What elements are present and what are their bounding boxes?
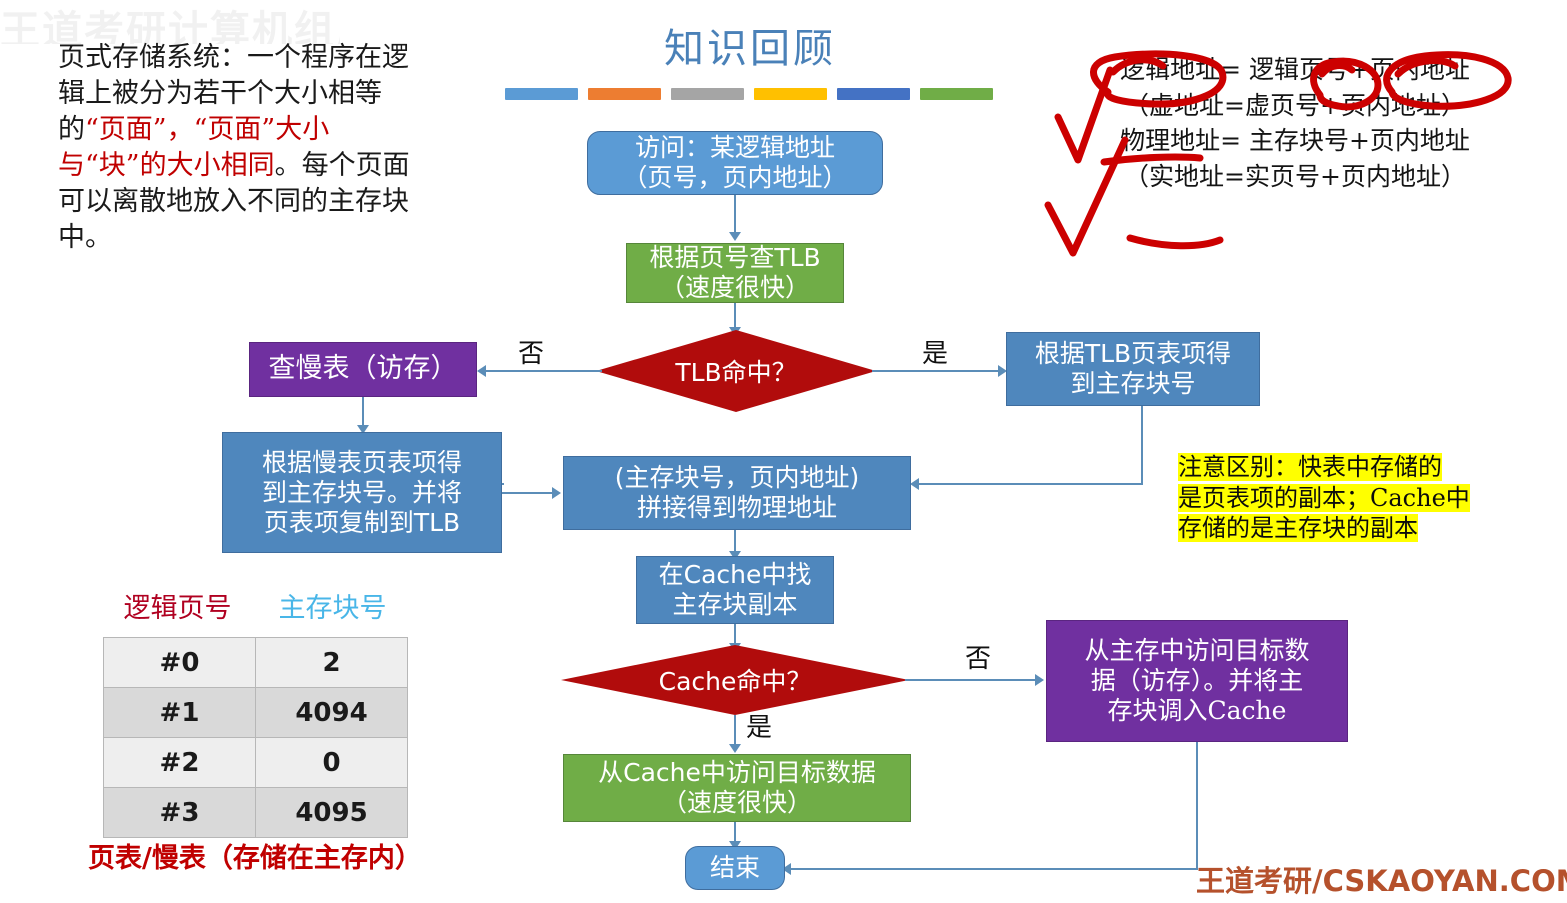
formula-physical-address: 物理地址= 主存块号+页内地址 xyxy=(1060,123,1530,159)
table-row: #0 2 xyxy=(104,638,408,688)
connector-slowresult-to-concat xyxy=(502,492,557,494)
connector-cache-yes xyxy=(734,715,736,747)
flow-start-line1: 访问：某逻辑地址 xyxy=(622,133,847,163)
flow-node-tlb-hit-result[interactable]: 根据TLB页表项得 到主存块号 xyxy=(1006,332,1260,406)
accent-bar-strip xyxy=(505,88,993,100)
find-cache-line2: 主存块副本 xyxy=(659,590,812,620)
slow-result-line2: 到主存块号。并将 xyxy=(262,478,462,508)
connector-slowresult-right-riser xyxy=(502,483,504,485)
flow-node-slow-table[interactable]: 查慢表（访存） xyxy=(249,342,477,397)
tlb-hit-line1: 根据TLB页表项得 xyxy=(1035,339,1231,369)
cell-page: #1 xyxy=(104,688,256,738)
cell-page: #0 xyxy=(104,638,256,688)
tlb-lookup-line1: 根据页号查TLB xyxy=(649,243,820,273)
page-table: #0 2 #1 4094 #2 0 #3 4095 xyxy=(103,637,408,838)
page-title: 知识回顾 xyxy=(520,16,980,74)
connector-tlb-yes xyxy=(872,370,1002,372)
accent-bar-3 xyxy=(671,88,744,100)
column-header-main-block: 主存块号 xyxy=(255,586,410,625)
connector-cache-no xyxy=(905,679,1040,681)
label-cache-no: 否 xyxy=(965,638,991,675)
tlb-hit-line2: 到主存块号 xyxy=(1035,369,1231,399)
from-cache-line2: （速度很快） xyxy=(598,788,876,818)
flow-node-slow-table-result[interactable]: 根据慢表页表项得 到主存块号。并将 页表项复制到TLB xyxy=(222,432,502,553)
arrowhead-down-1 xyxy=(729,232,741,241)
footer-brand: 王道考研/CSKAOYAN.COM xyxy=(1196,858,1567,900)
arrowhead-right-2 xyxy=(552,487,561,499)
arrowhead-left-1 xyxy=(477,365,486,377)
cell-block: 4094 xyxy=(256,688,408,738)
note-line2: 是页表项的副本；Cache中 xyxy=(1178,484,1470,512)
arrowhead-down-6 xyxy=(729,744,741,753)
cell-page: #3 xyxy=(104,788,256,838)
accent-bar-6 xyxy=(920,88,993,100)
background-watermark: 王道考研计算机组成原理 xyxy=(0,0,340,44)
from-mem-line1: 从主存中访问目标数 xyxy=(1084,636,1309,666)
highlighted-note: 注意区别：快表中存储的 是页表项的副本；Cache中 存储的是主存块的副本 xyxy=(1178,452,1526,544)
cell-block: 0 xyxy=(256,738,408,788)
flow-decision-tlb-hit[interactable]: TLB命中？ xyxy=(596,330,876,412)
slow-result-line1: 根据慢表页表项得 xyxy=(262,448,462,478)
page-table-headers: 逻辑页号 主存块号 xyxy=(100,586,410,625)
accent-bar-5 xyxy=(837,88,910,100)
accent-bar-2 xyxy=(588,88,661,100)
cell-block: 2 xyxy=(256,638,408,688)
connector-frommem-down xyxy=(1196,742,1198,870)
connector-tlb-no xyxy=(484,370,602,372)
table-row: #2 0 xyxy=(104,738,408,788)
slow-table-label: 查慢表（访存） xyxy=(269,353,458,385)
connector-tlbhit-down xyxy=(1141,406,1143,484)
slow-result-line3: 页表项复制到TLB xyxy=(262,508,462,538)
flow-node-find-in-cache[interactable]: 在Cache中找 主存块副本 xyxy=(636,556,834,624)
formula-logical-address: 逻辑地址= 逻辑页号+页内地址 xyxy=(1060,52,1530,88)
connector-start-to-tlb xyxy=(734,195,736,235)
accent-bar-1 xyxy=(505,88,578,100)
formula-virtual-address: （虚地址=虚页号+页内地址） xyxy=(1060,88,1530,124)
concat-line1: (主存块号，页内地址) xyxy=(615,463,860,493)
table-row: #1 4094 xyxy=(104,688,408,738)
flow-node-tlb-lookup[interactable]: 根据页号查TLB （速度很快） xyxy=(626,243,844,303)
flow-node-access-main-memory[interactable]: 从主存中访问目标数 据（访存）。并将主 存块调入Cache xyxy=(1046,620,1348,742)
connector-slowtable-down xyxy=(362,397,364,427)
arrowhead-left-2 xyxy=(910,478,919,490)
cell-block: 4095 xyxy=(256,788,408,838)
label-tlb-no: 否 xyxy=(518,333,544,370)
address-formula-block: 逻辑地址= 逻辑页号+页内地址 （虚地址=虚页号+页内地址） 物理地址= 主存块… xyxy=(1060,52,1530,194)
flow-node-access-from-cache[interactable]: 从Cache中访问目标数据 （速度很快） xyxy=(563,754,911,822)
label-cache-yes: 是 xyxy=(746,707,772,744)
flow-node-start[interactable]: 访问：某逻辑地址 （页号，页内地址） xyxy=(587,131,883,195)
flow-node-end[interactable]: 结束 xyxy=(685,846,785,890)
find-cache-line1: 在Cache中找 xyxy=(659,560,812,590)
from-mem-line3: 存块调入Cache xyxy=(1084,696,1309,726)
label-tlb-yes: 是 xyxy=(922,333,948,370)
from-mem-line2: 据（访存）。并将主 xyxy=(1084,666,1309,696)
flow-node-concat-address[interactable]: (主存块号，页内地址) 拼接得到物理地址 xyxy=(563,456,911,530)
definition-paragraph: 页式存储系统：一个程序在逻辑上被分为若干个大小相等的“页面”，“页面”大小与“块… xyxy=(58,40,418,255)
connector-tlb-to-decision xyxy=(734,303,736,329)
note-line1: 注意区别：快表中存储的 xyxy=(1178,453,1442,481)
tlb-lookup-line2: （速度很快） xyxy=(649,273,820,303)
connector-tlbhit-to-concat xyxy=(918,483,1143,485)
cell-page: #2 xyxy=(104,738,256,788)
flow-start-line2: （页号，页内地址） xyxy=(622,163,847,193)
concat-line2: 拼接得到物理地址 xyxy=(615,493,860,523)
accent-bar-4 xyxy=(754,88,827,100)
cache-decision-label: Cache命中？ xyxy=(659,662,812,698)
connector-frommem-to-end xyxy=(790,868,1198,870)
flow-end-label: 结束 xyxy=(710,853,760,883)
table-row: #3 4095 xyxy=(104,788,408,838)
column-header-logical-page: 逻辑页号 xyxy=(100,586,255,625)
from-cache-line1: 从Cache中访问目标数据 xyxy=(598,758,876,788)
flow-decision-cache-hit[interactable]: Cache命中？ xyxy=(561,645,909,715)
page-table-caption: 页表/慢表（存储在主存内） xyxy=(88,836,468,875)
arrowhead-right-3 xyxy=(1035,674,1044,686)
tlb-decision-label: TLB命中？ xyxy=(675,353,796,389)
note-line3: 存储的是主存块的副本 xyxy=(1178,514,1418,542)
formula-real-address: （实地址=实页号+页内地址） xyxy=(1060,159,1530,195)
